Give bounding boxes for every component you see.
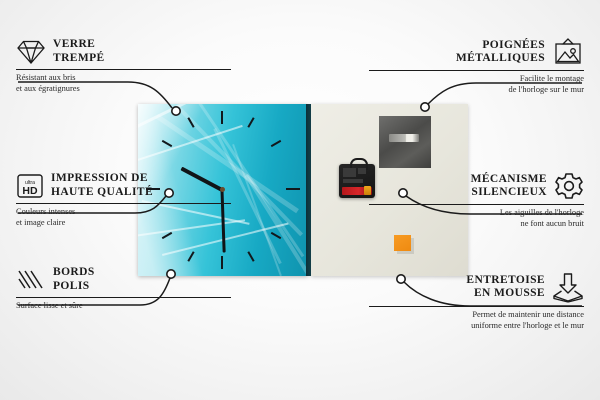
feature-title-line1: MÉCANISME <box>471 173 547 187</box>
feature-desc-line2: et image claire <box>16 218 231 228</box>
feature-desc-line2: et aux égratignures <box>16 84 231 94</box>
feature-impression-haute-qualite: ultra HD IMPRESSION DE HAUTE QUALITÉ Cou… <box>16 172 231 228</box>
ultra-hd-large-text: HD <box>22 185 38 197</box>
divider <box>16 297 231 298</box>
feature-title-line2: MÉTALLIQUES <box>456 52 545 66</box>
feature-desc-line1: Les aiguilles de l'horloge <box>369 208 584 218</box>
foam-spacer-icon <box>552 272 584 302</box>
divider <box>369 204 584 205</box>
metal-hanger-plate <box>379 116 431 168</box>
feature-desc-line2: uniforme entre l'horloge et le mur <box>369 321 584 331</box>
divider <box>369 70 584 71</box>
infographic-canvas: VERRE TREMPÉ Résistant aux bris et aux é… <box>0 0 600 400</box>
gear-icon <box>554 172 584 200</box>
feature-title-line1: POIGNÉES <box>456 39 545 53</box>
feature-verre-trempe: VERRE TREMPÉ Résistant aux bris et aux é… <box>16 38 231 94</box>
feature-title-line2: EN MOUSSE <box>466 287 545 301</box>
divider <box>16 69 231 70</box>
feature-entretoise-en-mousse: ENTRETOISE EN MOUSSE Permet de maintenir… <box>369 272 584 331</box>
feature-poignees-metalliques: POIGNÉES MÉTALLIQUES Facilite le montage… <box>369 38 584 95</box>
feature-desc-line1: Facilite le montage <box>369 74 584 84</box>
picture-frame-icon <box>552 38 584 66</box>
feature-desc-line1: Surface lisse et sûre <box>16 301 231 311</box>
divider <box>16 203 231 204</box>
feature-title-line1: BORDS <box>53 266 95 280</box>
feature-desc-line2: de l'horloge sur le mur <box>369 85 584 95</box>
feature-title-line2: HAUTE QUALITÉ <box>51 186 153 200</box>
feature-title-line1: VERRE <box>53 38 105 52</box>
feature-bords-polis: BORDS POLIS Surface lisse et sûre <box>16 266 231 312</box>
diamond-icon <box>16 39 46 65</box>
divider <box>369 306 584 307</box>
polished-edges-icon <box>16 267 46 293</box>
feature-mecanisme-silencieux: MÉCANISME SILENCIEUX Les aiguilles de l'… <box>369 172 584 229</box>
feature-title-line1: IMPRESSION DE <box>51 172 153 186</box>
ultra-hd-icon: ultra HD <box>16 173 44 199</box>
foam-spacer <box>394 235 411 251</box>
feature-title-line2: SILENCIEUX <box>471 186 547 200</box>
feature-desc-line1: Résistant aux bris <box>16 73 231 83</box>
feature-desc-line2: ne font aucun bruit <box>369 219 584 229</box>
feature-desc-line1: Couleurs intenses <box>16 207 231 217</box>
feature-title-line1: ENTRETOISE <box>466 274 545 288</box>
feature-title-line2: POLIS <box>53 280 95 294</box>
feature-title-line2: TREMPÉ <box>53 52 105 66</box>
feature-desc-line1: Permet de maintenir une distance <box>369 310 584 320</box>
